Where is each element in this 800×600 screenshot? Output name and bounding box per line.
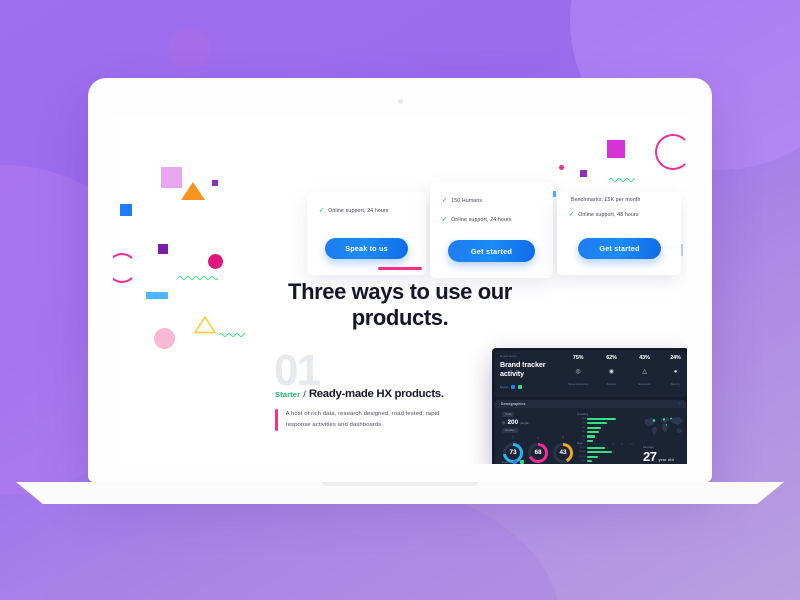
chart-bar-row: ES — [577, 435, 633, 438]
chart-bar-row: US — [577, 422, 633, 425]
shape-right-ring-3 — [655, 134, 687, 170]
total-number: 200 — [508, 419, 519, 426]
shape-left-square-1 — [120, 204, 132, 216]
laptop-notch — [322, 482, 478, 486]
gauge-ring: △ — [635, 363, 654, 382]
legend-dot-green — [520, 460, 524, 464]
dashboard-legend-label: Export — [500, 385, 508, 389]
gauge-glyph-icon: ◎ — [576, 369, 581, 375]
feature-row: ✓ 150 Humans — [442, 198, 482, 204]
chart-bar — [587, 460, 592, 462]
gauge-glyph-icon: ● — [674, 369, 678, 375]
chart-title: Age — [577, 441, 633, 445]
feature-label: Online support, 48 hours — [578, 212, 638, 218]
gauge-percent: 24% — [670, 355, 681, 361]
gauge-percent: 62% — [606, 355, 617, 361]
panel-header-title: Demographics — [501, 402, 526, 406]
section-accent-bar — [275, 409, 278, 431]
panel-footer-label: Export — [502, 461, 510, 464]
dashboard-title: Brand tracker activity — [500, 360, 560, 378]
legend-dot-blue — [511, 385, 515, 389]
background-blob-small — [168, 28, 210, 70]
dashboard-legend: Export — [500, 385, 522, 389]
section-subtitle-row: Starter / Ready-made HX products. — [275, 388, 444, 400]
section-tag: Starter — [275, 390, 300, 399]
dashboard-mockup: Experience Brand tracker activity Export… — [492, 348, 687, 464]
shape-left-circle-8 — [154, 328, 175, 349]
trend-arrow-icon: ↑ — [512, 436, 515, 441]
feature-label: Online support, 24 hours — [328, 208, 388, 214]
shape-left-square-2 — [158, 244, 168, 254]
pricing-card-3[interactable]: Benchmarks: £5K per month ✓ Online suppo… — [557, 192, 681, 275]
chart-bar-row: FR — [577, 431, 633, 434]
gauge-glyph-icon: △ — [642, 369, 647, 375]
chart-category-label: FR — [577, 431, 585, 433]
gauge-label: Attention — [607, 383, 616, 386]
total-row: ◎ 200 people — [502, 419, 529, 426]
camera-dot — [398, 99, 403, 104]
panel-footer-legend: Export — [502, 460, 524, 464]
chart-category-label: DE — [577, 427, 585, 429]
chart-bar — [587, 422, 607, 424]
shape-left-triangle-3 — [181, 182, 205, 200]
gauge-label: Human Experience — [568, 383, 588, 386]
chart-bar — [587, 456, 598, 458]
chart-category-label: ES — [577, 436, 585, 438]
shape-left-square-0 — [161, 167, 182, 188]
chart-category-label: 25-34 — [577, 451, 585, 453]
gauge-0: 75%◎Human Experience — [568, 355, 588, 386]
donut-value: 73 — [506, 446, 520, 460]
gauge-ring: ● — [666, 363, 685, 382]
gauge-percent: 43% — [639, 355, 650, 361]
gauge-center: ● — [669, 366, 682, 379]
section-title: Ready-made HX products. — [309, 388, 444, 400]
section-body-text: A host of rich data, research designed, … — [286, 409, 451, 431]
shape-left-wave-11 — [219, 325, 245, 343]
chart-category-label: 45+ — [577, 460, 585, 462]
shape-right-square-1 — [607, 140, 625, 158]
chart-bar-row: DE — [577, 426, 633, 429]
gender-label: Gender — [502, 428, 518, 433]
get-started-button[interactable]: Get started — [578, 238, 661, 259]
donut-ring: 68 — [528, 443, 548, 463]
check-icon: ✓ — [442, 198, 447, 204]
shape-left-circle-6 — [208, 254, 223, 269]
feature-label: Online support, 24 hours — [451, 217, 511, 223]
gauge-glyph-icon: ◉ — [609, 369, 614, 375]
gauge-label: Expression — [639, 383, 651, 386]
shape-left-wave-10 — [178, 268, 218, 286]
chevron-up-icon[interactable]: ⌃ — [678, 402, 681, 406]
feature-row: ✓ Online support, 24 hours — [442, 217, 512, 223]
donut-value: 43 — [556, 446, 570, 460]
laptop-mockup: ✓ Online support, 24 hours Speak to us ✓… — [88, 78, 712, 482]
gender-donut-2: ↑43Other — [553, 436, 573, 464]
chart-bar — [587, 431, 599, 433]
chart-bar-row: 35-44 — [577, 455, 633, 458]
gauge-ring: ◉ — [602, 363, 621, 382]
legend-dot-blue — [513, 460, 517, 464]
chart-bar — [587, 451, 612, 453]
total-label: Total — [502, 412, 514, 417]
feature-label: 150 Humans — [451, 198, 482, 204]
section-body-wrapper: A host of rich data, research designed, … — [275, 409, 451, 431]
feature-label: Benchmarks: £5K per month — [571, 197, 641, 203]
average-unit: year old — [658, 458, 673, 462]
pricing-card-1[interactable]: ✓ Online support, 24 hours Speak to us — [307, 192, 426, 275]
shape-left-square-4 — [212, 180, 218, 186]
gauge-center: △ — [638, 366, 651, 379]
pricing-card-2[interactable]: ✓ 150 Humans ✓ Online support, 24 hours … — [430, 182, 553, 278]
feature-row: ✓ Online support, 24 hours — [319, 208, 389, 214]
get-started-button[interactable]: Get started — [448, 240, 535, 262]
gauge-percent: 75% — [573, 355, 584, 361]
browser-screen: ✓ Online support, 24 hours Speak to us ✓… — [113, 116, 687, 464]
chart-bar — [587, 447, 605, 449]
chart-bar — [587, 427, 601, 429]
shape-left-square-7 — [146, 292, 168, 299]
chart-category-label: UK — [577, 418, 585, 420]
chart-bar-row: 18-24 — [577, 447, 633, 450]
chart-bar-row: 45+ — [577, 460, 633, 463]
feature-row: ✓ Online support, 48 hours — [569, 212, 639, 218]
gauge-2: 43%△Expression — [635, 355, 654, 386]
chart-bar-row: UK — [577, 418, 633, 421]
chart-bar-row: 25-34 — [577, 451, 633, 454]
gauge-ring: ◎ — [569, 363, 588, 382]
people-icon: ◎ — [502, 420, 506, 425]
donut-ring: 43 — [553, 443, 573, 463]
gender-donut-1: ↓68Female — [528, 436, 548, 464]
average-row: 27 year old — [643, 449, 674, 464]
dashboard-kicker: Experience — [500, 354, 517, 358]
heading-accent-rule — [378, 267, 422, 270]
donut-value: 68 — [531, 446, 545, 460]
chart-category-label: 35-44 — [577, 456, 585, 458]
gauge-3: 24%●Memory — [666, 355, 685, 386]
shape-left-outline-triangle-9 — [194, 316, 216, 339]
chart-title: Country — [577, 412, 633, 416]
chart-category-label: US — [577, 422, 585, 424]
gauge-1: 62%◉Attention — [602, 355, 621, 386]
average-number: 27 — [643, 449, 656, 464]
average-age-box: Average 27 year old — [643, 446, 674, 464]
shape-right-wave-12 — [609, 170, 635, 188]
gauge-center: ◉ — [605, 366, 618, 379]
chart-bar — [587, 435, 595, 437]
age-bar-chart: Age18-2425-3435-4445+020406080100 — [577, 441, 633, 464]
chart-bar — [587, 418, 616, 420]
decorative-shapes-left — [113, 140, 263, 380]
shape-right-square-2 — [580, 170, 587, 177]
speak-to-us-button[interactable]: Speak to us — [325, 238, 408, 259]
check-icon: ✓ — [319, 208, 324, 214]
legend-dot-green — [518, 385, 522, 389]
total-unit: people — [520, 421, 528, 425]
gauge-label: Memory — [671, 383, 680, 386]
section-separator: / — [303, 389, 306, 400]
page-title: Three ways to use our products. — [270, 279, 530, 331]
trend-arrow-icon: ↑ — [562, 436, 565, 441]
world-map — [643, 414, 685, 438]
chart-category-label: 18-24 — [577, 447, 585, 449]
trend-arrow-icon: ↓ — [537, 436, 540, 441]
demographics-panel: Demographics ⌃ Total ◎ 200 people Gender… — [495, 400, 686, 464]
check-icon: ✓ — [569, 212, 574, 218]
shape-left-ring-5 — [113, 253, 137, 283]
feature-row: Benchmarks: £5K per month — [571, 197, 641, 203]
check-icon: ✓ — [442, 217, 447, 223]
shape-right-circle-0 — [559, 165, 564, 170]
gauge-center: ◎ — [572, 366, 585, 379]
section-number: 01 — [274, 349, 319, 393]
